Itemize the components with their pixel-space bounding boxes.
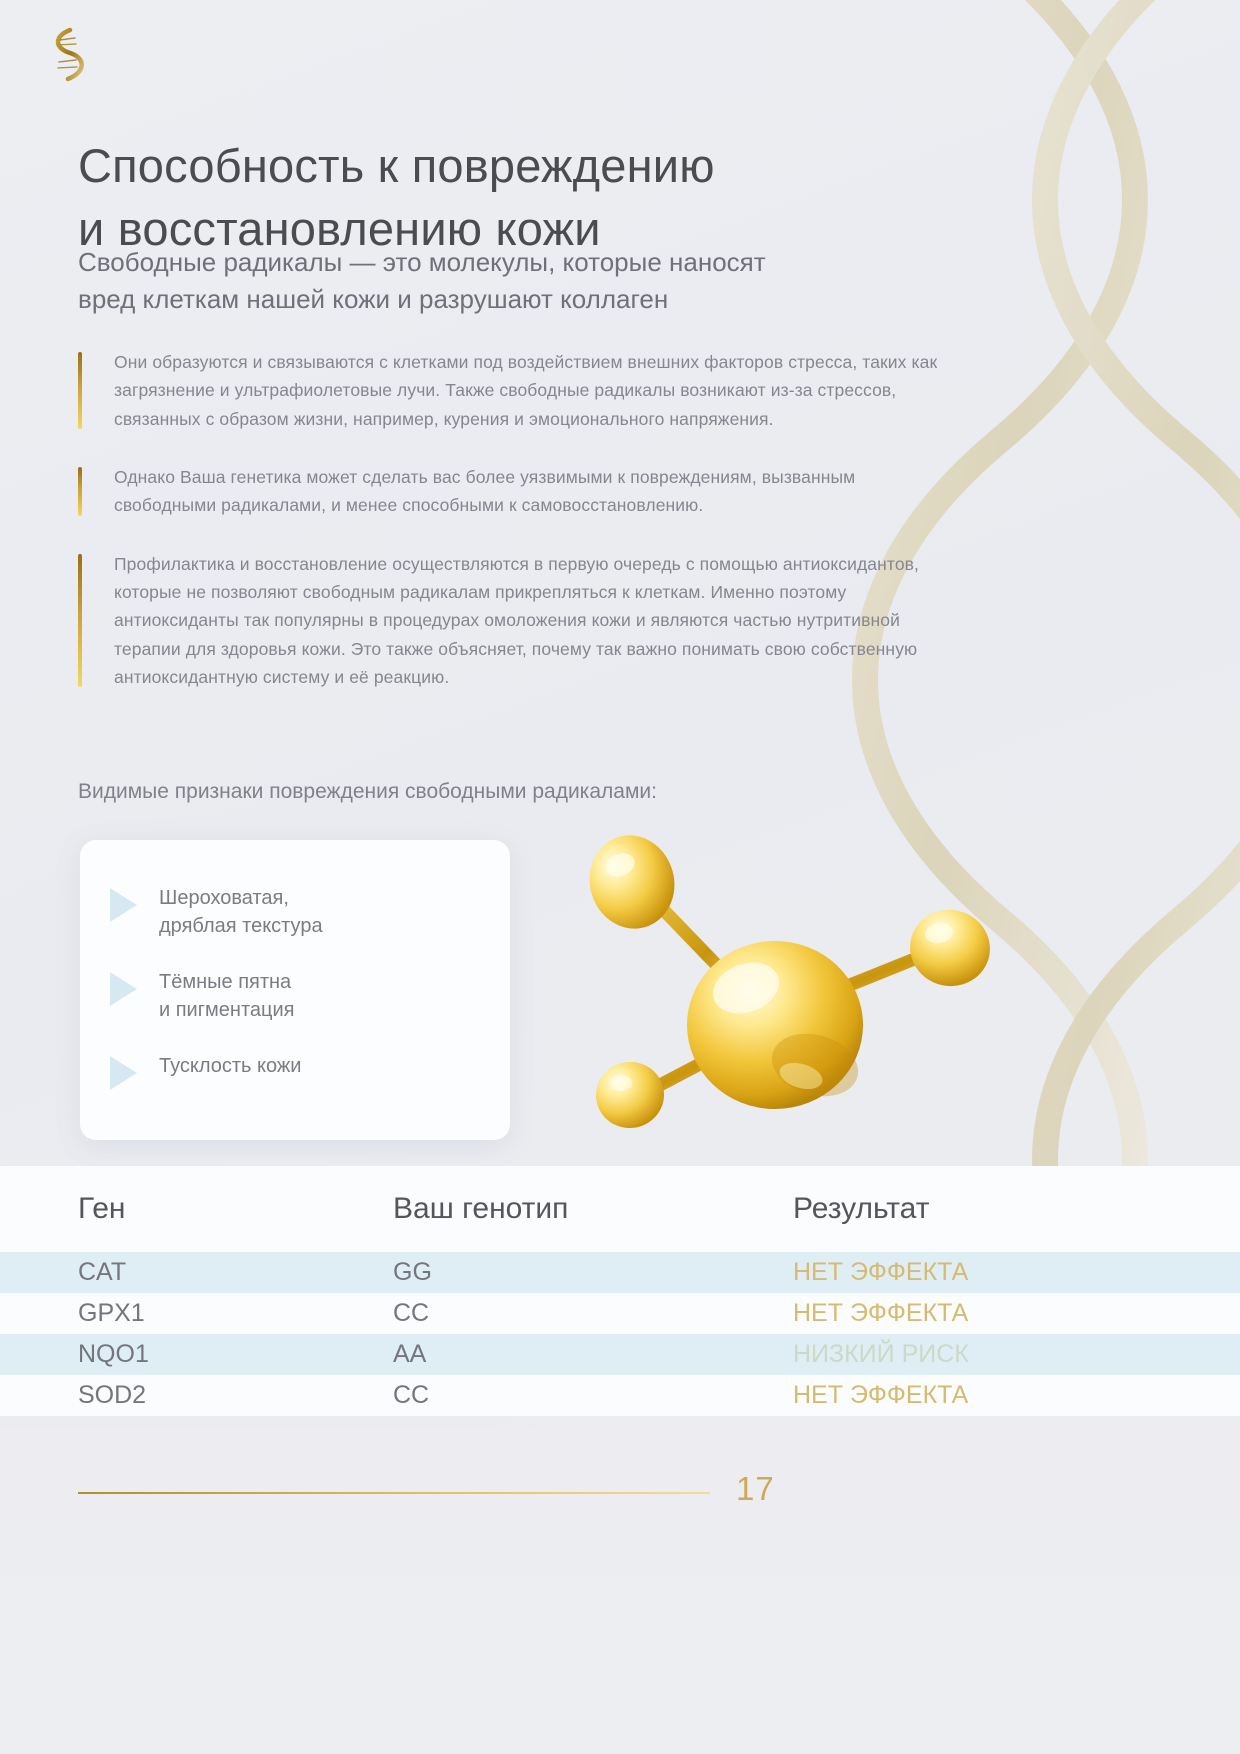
paragraph-block: Они образуются и связываются с клетками … (78, 348, 938, 433)
table-row: SOD2 CC НЕТ ЭФФЕКТА (0, 1375, 1240, 1416)
footer-divider (78, 1492, 710, 1494)
page-subtitle-line-2: вред клеткам нашей кожи и разрушают колл… (78, 284, 668, 314)
list-item: Тёмные пятна и пигментация (110, 968, 480, 1024)
paragraph-blocks: Они образуются и связываются с клетками … (78, 348, 938, 691)
cell-genotype: CC (393, 1381, 793, 1410)
list-item: Шероховатая, дряблая текстура (110, 884, 480, 940)
cell-gene: SOD2 (78, 1381, 393, 1410)
genotype-results-table: Ген Ваш генотип Результат CAT GG НЕТ ЭФФ… (0, 1166, 1240, 1416)
page-title: Способность к повреждению и восстановлен… (78, 135, 978, 259)
report-page: Способность к повреждению и восстановлен… (0, 0, 1240, 1754)
dna-helix-icon (44, 26, 90, 84)
page-subtitle-line-1: Свободные радикалы — это молекулы, котор… (78, 247, 766, 277)
triangle-right-icon (110, 1056, 137, 1090)
gold-molecule-illustration (560, 820, 1030, 1150)
gold-accent-bar (78, 554, 82, 688)
paragraph-text: Однако Ваша генетика может сделать вас б… (114, 463, 938, 520)
cell-gene: GPX1 (78, 1299, 393, 1328)
status-badge: НЕТ ЭФФЕКТА (793, 1381, 1240, 1410)
column-header-result: Результат (793, 1192, 1240, 1226)
column-header-gene: Ген (78, 1192, 393, 1226)
signs-card: Шероховатая, дряблая текстура Тёмные пят… (80, 840, 510, 1140)
gold-accent-bar (78, 467, 82, 516)
sign-label: Тусклость кожи (159, 1052, 301, 1080)
cell-gene: NQO1 (78, 1340, 393, 1369)
paragraph-text: Они образуются и связываются с клетками … (114, 348, 938, 433)
page-number: 17 (736, 1470, 775, 1508)
table-row: NQO1 AA НИЗКИЙ РИСК (0, 1334, 1240, 1375)
table-header-row: Ген Ваш генотип Результат (0, 1166, 1240, 1252)
triangle-right-icon (110, 888, 137, 922)
table-row: GPX1 CC НЕТ ЭФФЕКТА (0, 1293, 1240, 1334)
cell-gene: CAT (78, 1258, 393, 1287)
sign-label: Шероховатая, дряблая текстура (159, 884, 323, 940)
triangle-right-icon (110, 972, 137, 1006)
page-subtitle: Свободные радикалы — это молекулы, котор… (78, 244, 958, 318)
page-footer: 17 (0, 1430, 1240, 1754)
page-title-line-1: Способность к повреждению (78, 139, 715, 192)
cell-genotype: CC (393, 1299, 793, 1328)
sign-label: Тёмные пятна и пигментация (159, 968, 294, 1024)
signs-heading: Видимые признаки повреждения свободными … (78, 780, 657, 804)
status-badge: НЕТ ЭФФЕКТА (793, 1258, 1240, 1287)
status-badge: НЕТ ЭФФЕКТА (793, 1299, 1240, 1328)
cell-genotype: GG (393, 1258, 793, 1287)
gold-accent-bar (78, 352, 82, 429)
cell-genotype: AA (393, 1340, 793, 1369)
paragraph-text: Профилактика и восстановление осуществля… (114, 550, 938, 692)
paragraph-block: Профилактика и восстановление осуществля… (78, 550, 938, 692)
list-item: Тусклость кожи (110, 1052, 480, 1090)
column-header-genotype: Ваш генотип (393, 1192, 793, 1226)
table-row: CAT GG НЕТ ЭФФЕКТА (0, 1252, 1240, 1293)
paragraph-block: Однако Ваша генетика может сделать вас б… (78, 463, 938, 520)
status-badge: НИЗКИЙ РИСК (793, 1340, 1240, 1369)
